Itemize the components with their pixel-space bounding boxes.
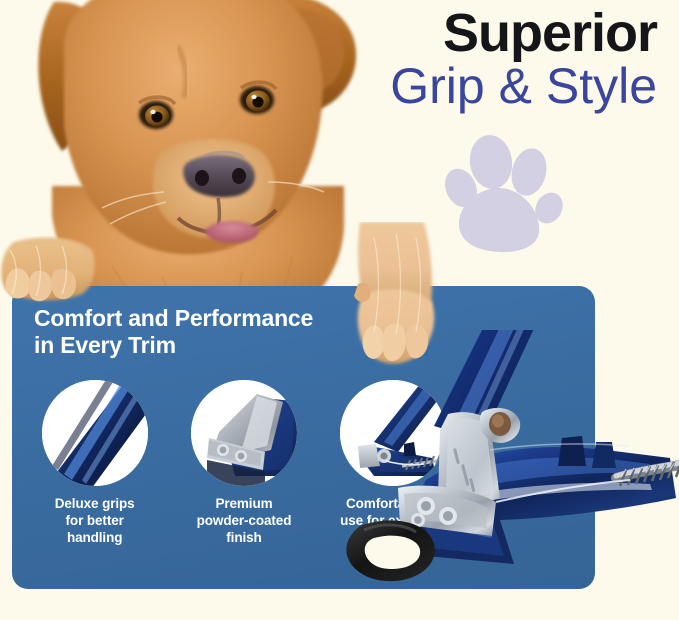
feature-caption-powder-coated-finish: Premium powder-coated finish xyxy=(197,495,292,546)
feature-image-deluxe-grips xyxy=(42,380,148,486)
feature-caption-deluxe-grips: Deluxe grips for better handling xyxy=(55,495,135,546)
feature-item-deluxe-grips: Deluxe grips for better handling xyxy=(24,380,165,570)
feature-item-powder-coated-finish: Premium powder-coated finish xyxy=(173,380,314,570)
product-photo-nail-clipper xyxy=(330,330,679,620)
banner-canvas: Superior Grip & Style Comfort and Perfor… xyxy=(0,0,679,620)
headline: Superior Grip & Style xyxy=(390,4,657,114)
headline-line-1: Superior xyxy=(390,4,657,62)
paw-print-watermark xyxy=(445,126,563,252)
dog-paw-left xyxy=(0,236,104,332)
headline-line-2: Grip & Style xyxy=(390,58,657,114)
feature-image-powder-coated-finish xyxy=(191,380,297,486)
